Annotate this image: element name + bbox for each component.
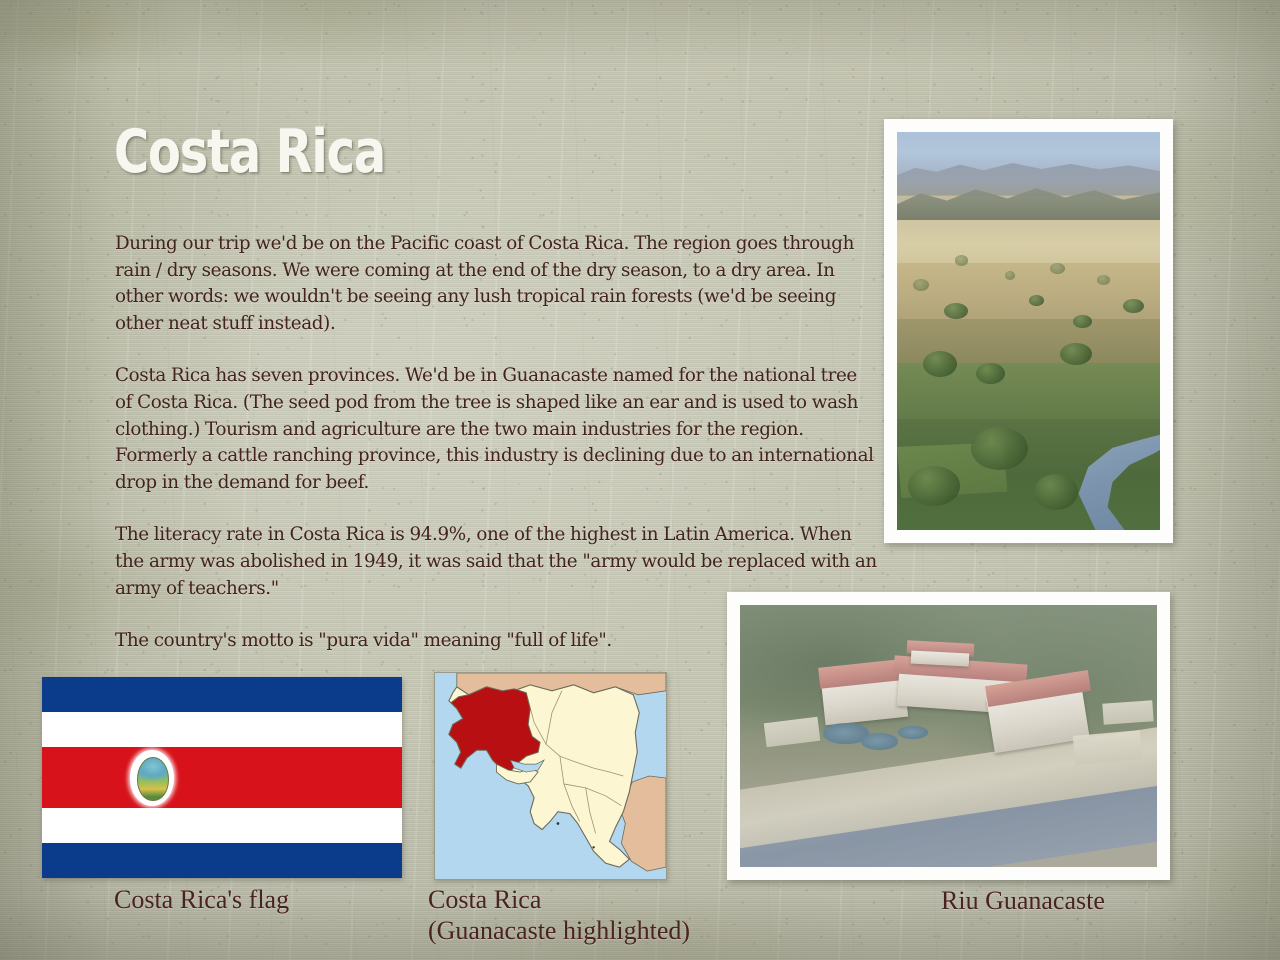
aerial-landscape-photo-image	[897, 132, 1160, 530]
body-paragraph-3: The literacy rate in Costa Rica is 94.9%…	[115, 522, 877, 602]
slide-content: Costa Rica During our trip we'd be on th…	[0, 0, 1280, 960]
flag-stripe-white-top	[42, 712, 402, 747]
map-island	[592, 846, 594, 848]
flag-stripe-white-bottom	[42, 808, 402, 843]
flag-stripe-blue-top	[42, 677, 402, 712]
body-paragraph-1: During our trip we'd be on the Pacific c…	[115, 231, 877, 337]
costa-rica-flag	[42, 677, 402, 878]
riu-guanacaste-resort-photo	[727, 592, 1170, 880]
coat-of-arms-icon	[130, 750, 174, 805]
flag-stripe-blue-bottom	[42, 843, 402, 878]
map-island	[557, 822, 560, 825]
riu-guanacaste-resort-photo-image	[740, 605, 1157, 867]
caption-flag: Costa Rica's flag	[114, 884, 289, 915]
costa-rica-province-map	[434, 672, 667, 880]
body-paragraph-2: Costa Rica has seven provinces. We'd be …	[115, 363, 877, 496]
page-title: Costa Rica	[114, 122, 385, 182]
landscape-atmospheric-haze	[897, 132, 1160, 530]
slide: Costa Rica During our trip we'd be on th…	[0, 0, 1280, 960]
caption-map: Costa Rica (Guanacaste highlighted)	[428, 884, 690, 946]
flag-stripe-red	[42, 747, 402, 807]
resort-atmospheric-haze	[740, 605, 1157, 867]
costa-rica-province-map-svg	[435, 673, 666, 879]
caption-resort: Riu Guanacaste	[941, 885, 1105, 916]
aerial-landscape-photo	[884, 119, 1173, 543]
